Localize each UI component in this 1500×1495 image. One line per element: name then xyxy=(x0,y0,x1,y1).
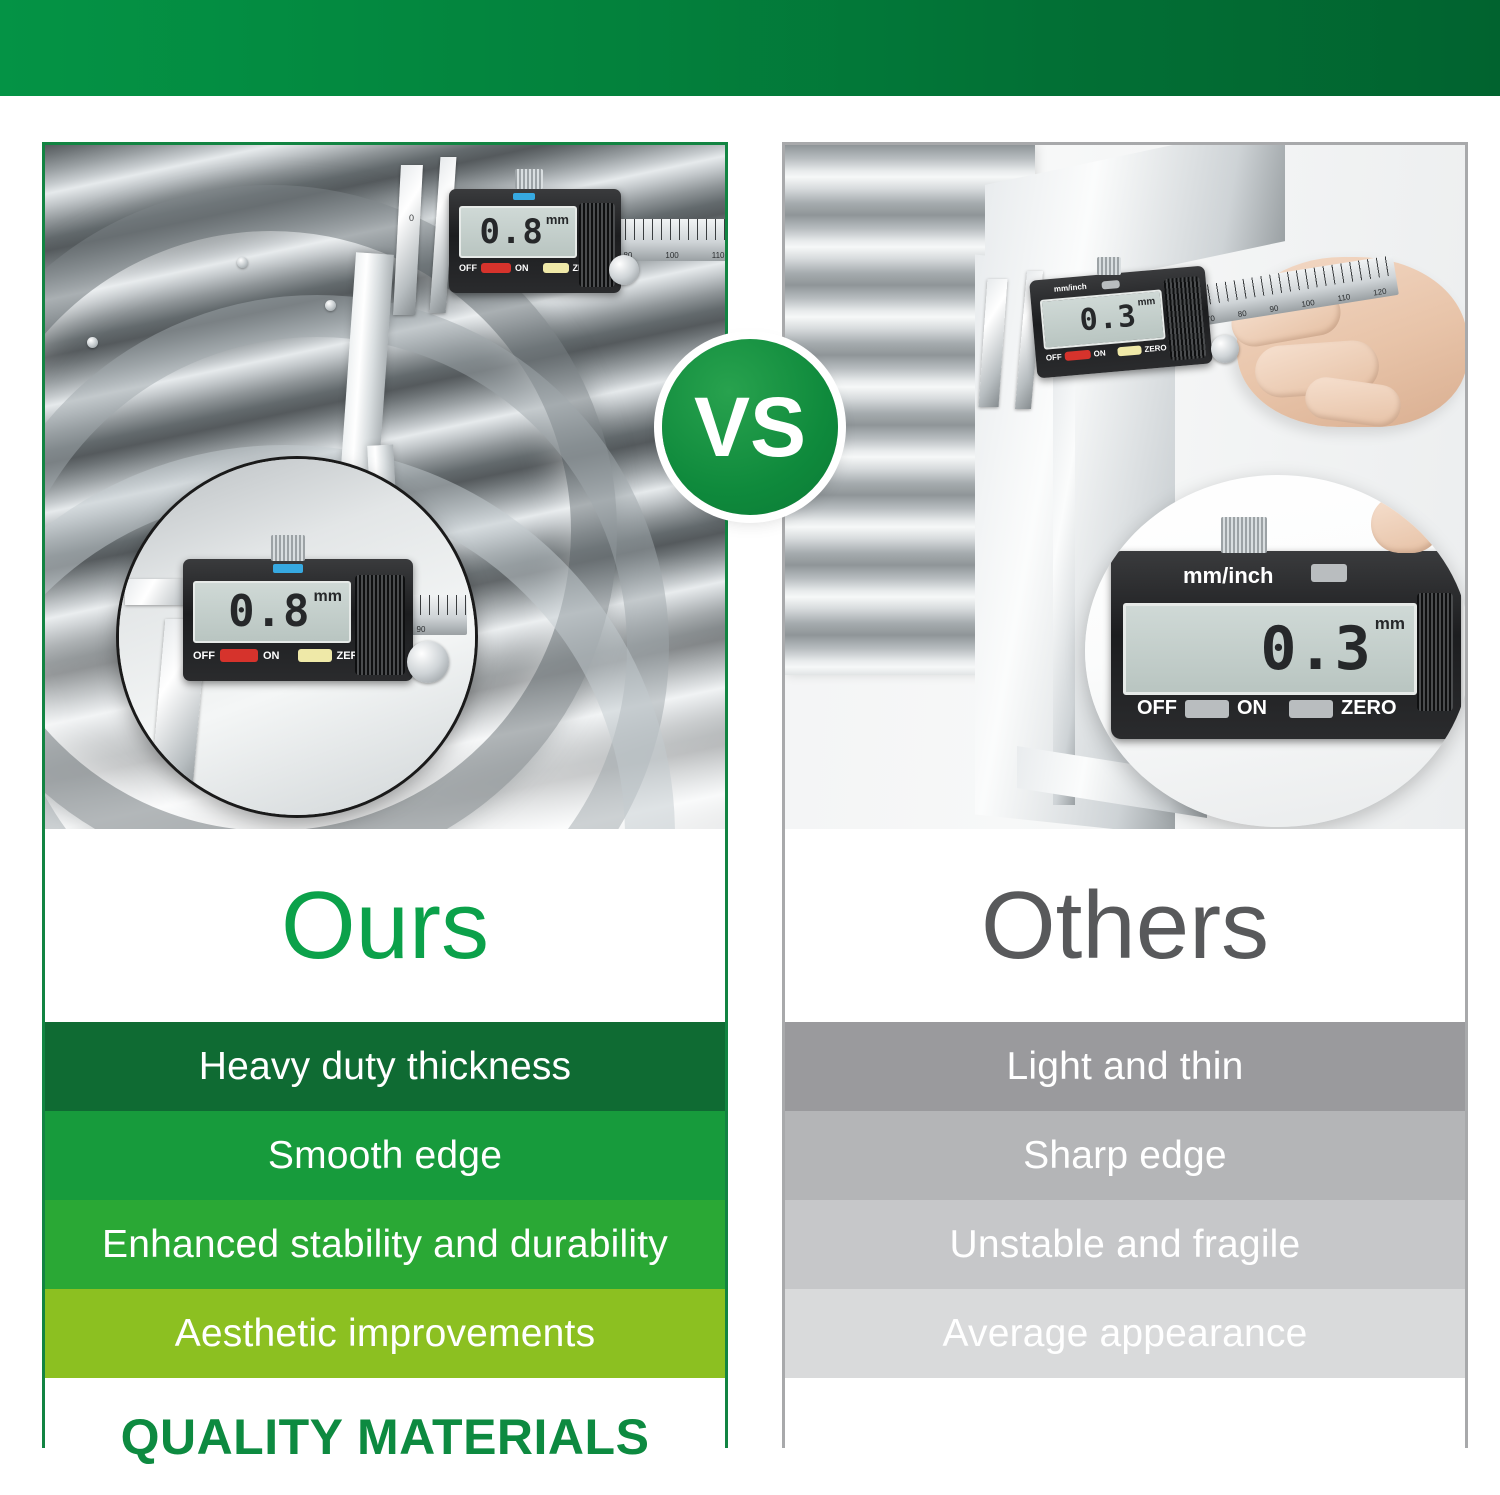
digital-caliper-ours: 80 100 110 0 0.8 mm OF xyxy=(397,161,717,321)
caliper-roller-knob xyxy=(1211,335,1239,363)
feature-label: Enhanced stability and durability xyxy=(102,1225,668,1264)
inset-caliper-grip xyxy=(1417,593,1453,711)
scale-number: 100 xyxy=(1301,298,1316,309)
inset-power-switch[interactable] xyxy=(220,649,258,662)
caliper-body: mm/inch 0.3 mm OFF ON ZERO xyxy=(1029,266,1213,379)
caliper-body: 0.8 mm OFF ON ZERO xyxy=(449,189,621,293)
inset-caliper-lock-screw xyxy=(271,535,305,561)
top-green-banner xyxy=(0,0,1500,96)
quality-materials-label: QUALITY MATERIALS xyxy=(121,1408,650,1466)
caliper-fixed-jaw xyxy=(393,165,423,315)
feature-label: Sharp edge xyxy=(1023,1136,1227,1175)
feature-label: Light and thin xyxy=(1007,1047,1244,1086)
rivet xyxy=(87,337,98,348)
comparison-column-ours: 80 100 110 0 0.8 mm OF xyxy=(42,142,728,1448)
page-title-others: Others xyxy=(981,878,1269,974)
feature-rows-ours: Heavy duty thickness Smooth edge Enhance… xyxy=(45,1022,725,1378)
inset-finger xyxy=(1371,495,1441,553)
inset-caliper-lcd: 0.8 mm xyxy=(193,581,351,643)
inset-zero-switch[interactable] xyxy=(1289,700,1333,718)
caliper-scale: 70 80 90 100 110 120 xyxy=(1189,255,1399,327)
rivet xyxy=(237,257,248,268)
feature-label: Heavy duty thickness xyxy=(199,1047,572,1086)
feature-row: Smooth edge xyxy=(45,1111,725,1200)
caliper-fixed-jaw xyxy=(979,279,1008,407)
inset-on-label: ON xyxy=(1237,697,1267,720)
caliper-zero-label: ZERO xyxy=(1144,343,1167,354)
column-title-band-ours: Ours xyxy=(45,829,725,1022)
scale-number: 110 xyxy=(1337,292,1351,303)
caliper-on-label: ON xyxy=(1093,348,1106,358)
caliper-mode-button xyxy=(513,193,535,200)
digital-caliper-others: 70 80 90 100 110 120 mm/inch 0.3 mm xyxy=(979,257,1399,407)
caliper-unit: mm xyxy=(1137,296,1156,309)
feature-row: Sharp edge xyxy=(785,1111,1465,1200)
caliper-lcd-screen: 0.3 mm xyxy=(1040,289,1166,349)
caliper-mode-label: mm/inch xyxy=(1053,282,1087,294)
caliper-thumb-grip xyxy=(1163,276,1206,361)
inset-off-label: OFF xyxy=(1137,697,1177,720)
vs-badge: VS xyxy=(662,339,838,515)
inset-off-label: OFF xyxy=(193,650,215,662)
scale-number: 90 xyxy=(1269,304,1279,314)
scale-number: 90 xyxy=(417,625,426,634)
caliper-tick-marks xyxy=(1189,255,1396,307)
feature-row: Unstable and fragile xyxy=(785,1200,1465,1289)
inset-caliper-mode-button xyxy=(273,564,303,573)
magnifier-inset-others: mm/inch 0.3 mm OFF ON ZERO xyxy=(1085,475,1465,827)
inset-caliper-reading: 0.3 xyxy=(1260,619,1371,679)
rivet xyxy=(325,300,336,311)
inset-caliper-roller-knob xyxy=(407,641,449,683)
caliper-roller-knob xyxy=(609,255,639,285)
inset-zero-switch[interactable] xyxy=(298,649,332,662)
caliper-off-label: OFF xyxy=(1045,352,1062,362)
inset-caliper-unit: mm xyxy=(314,588,342,606)
inset-caliper-lcd: 0.3 mm xyxy=(1123,603,1417,695)
caliper-off-label: OFF xyxy=(459,263,477,273)
comparison-stage: 80 100 110 0 0.8 mm OF xyxy=(0,96,1500,1454)
power-switch[interactable] xyxy=(481,263,511,273)
inset-caliper-lock-screw xyxy=(1221,517,1267,553)
page-title-ours: Ours xyxy=(281,878,489,974)
column-title-band-others: Others xyxy=(785,829,1465,1022)
caliper-tick-marks xyxy=(607,219,725,240)
feature-row: Average appearance xyxy=(785,1289,1465,1378)
scale-number: 120 xyxy=(1373,287,1388,298)
scale-number: 100 xyxy=(665,251,678,260)
feature-row: Light and thin xyxy=(785,1022,1465,1111)
feature-row: Heavy duty thickness xyxy=(45,1022,725,1111)
inset-caliper-reading: 0.8 xyxy=(228,590,310,634)
product-photo-ours: 80 100 110 0 0.8 mm OF xyxy=(45,145,725,829)
caliper-reading: 0.8 xyxy=(479,215,543,249)
product-photo-others: 70 80 90 100 110 120 mm/inch 0.3 mm xyxy=(785,145,1465,829)
inset-caliper-body: mm/inch 0.3 mm OFF ON ZERO xyxy=(1111,551,1461,739)
inset-zero-label: ZERO xyxy=(1341,697,1397,720)
feature-label: Average appearance xyxy=(943,1314,1308,1353)
footer-band-ours: QUALITY MATERIALS xyxy=(45,1378,725,1495)
vs-label: VS xyxy=(694,385,806,469)
caliper-mode-button[interactable] xyxy=(1101,280,1120,290)
scale-number: 110 xyxy=(712,251,725,260)
caliper-lock-screw xyxy=(1097,257,1121,275)
feature-label: Unstable and fragile xyxy=(950,1225,1301,1264)
zero-switch[interactable] xyxy=(543,263,569,273)
caliper-lcd-screen: 0.8 mm xyxy=(459,206,577,258)
feature-row: Aesthetic improvements xyxy=(45,1289,725,1378)
comparison-column-others: 70 80 90 100 110 120 mm/inch 0.3 mm xyxy=(782,142,1468,1448)
inset-caliper-button-row: OFF ON ZERO xyxy=(1137,697,1437,720)
feature-rows-others: Light and thin Sharp edge Unstable and f… xyxy=(785,1022,1465,1378)
caliper-unit: mm xyxy=(546,212,569,227)
feature-row: Enhanced stability and durability xyxy=(45,1200,725,1289)
inset-caliper-body: 0.8 mm OFF ON ZERO xyxy=(183,559,413,681)
inset-caliper-grip xyxy=(355,575,405,675)
caliper-on-label: ON xyxy=(515,263,529,273)
footer-band-others xyxy=(785,1378,1465,1495)
caliper-lock-screw xyxy=(515,169,543,189)
magnifier-inset-ours: 90 0.8 mm OFF ON ZERO xyxy=(119,459,475,815)
scale-number: 80 xyxy=(1237,309,1247,319)
zero-switch[interactable] xyxy=(1117,345,1142,356)
caliper-zero-mark: 0 xyxy=(409,213,414,223)
inset-on-label: ON xyxy=(263,650,280,662)
inset-caliper-mode-button[interactable] xyxy=(1311,564,1347,582)
feature-label: Aesthetic improvements xyxy=(175,1314,596,1353)
feature-label: Smooth edge xyxy=(268,1136,502,1175)
inset-caliper-mode-label: mm/inch xyxy=(1183,563,1273,589)
sheet-metal-edge xyxy=(1053,375,1075,805)
power-switch[interactable] xyxy=(1064,350,1091,361)
caliper-reading: 0.3 xyxy=(1079,302,1139,337)
inset-power-switch[interactable] xyxy=(1185,700,1229,718)
inset-caliper-unit: mm xyxy=(1375,614,1405,634)
